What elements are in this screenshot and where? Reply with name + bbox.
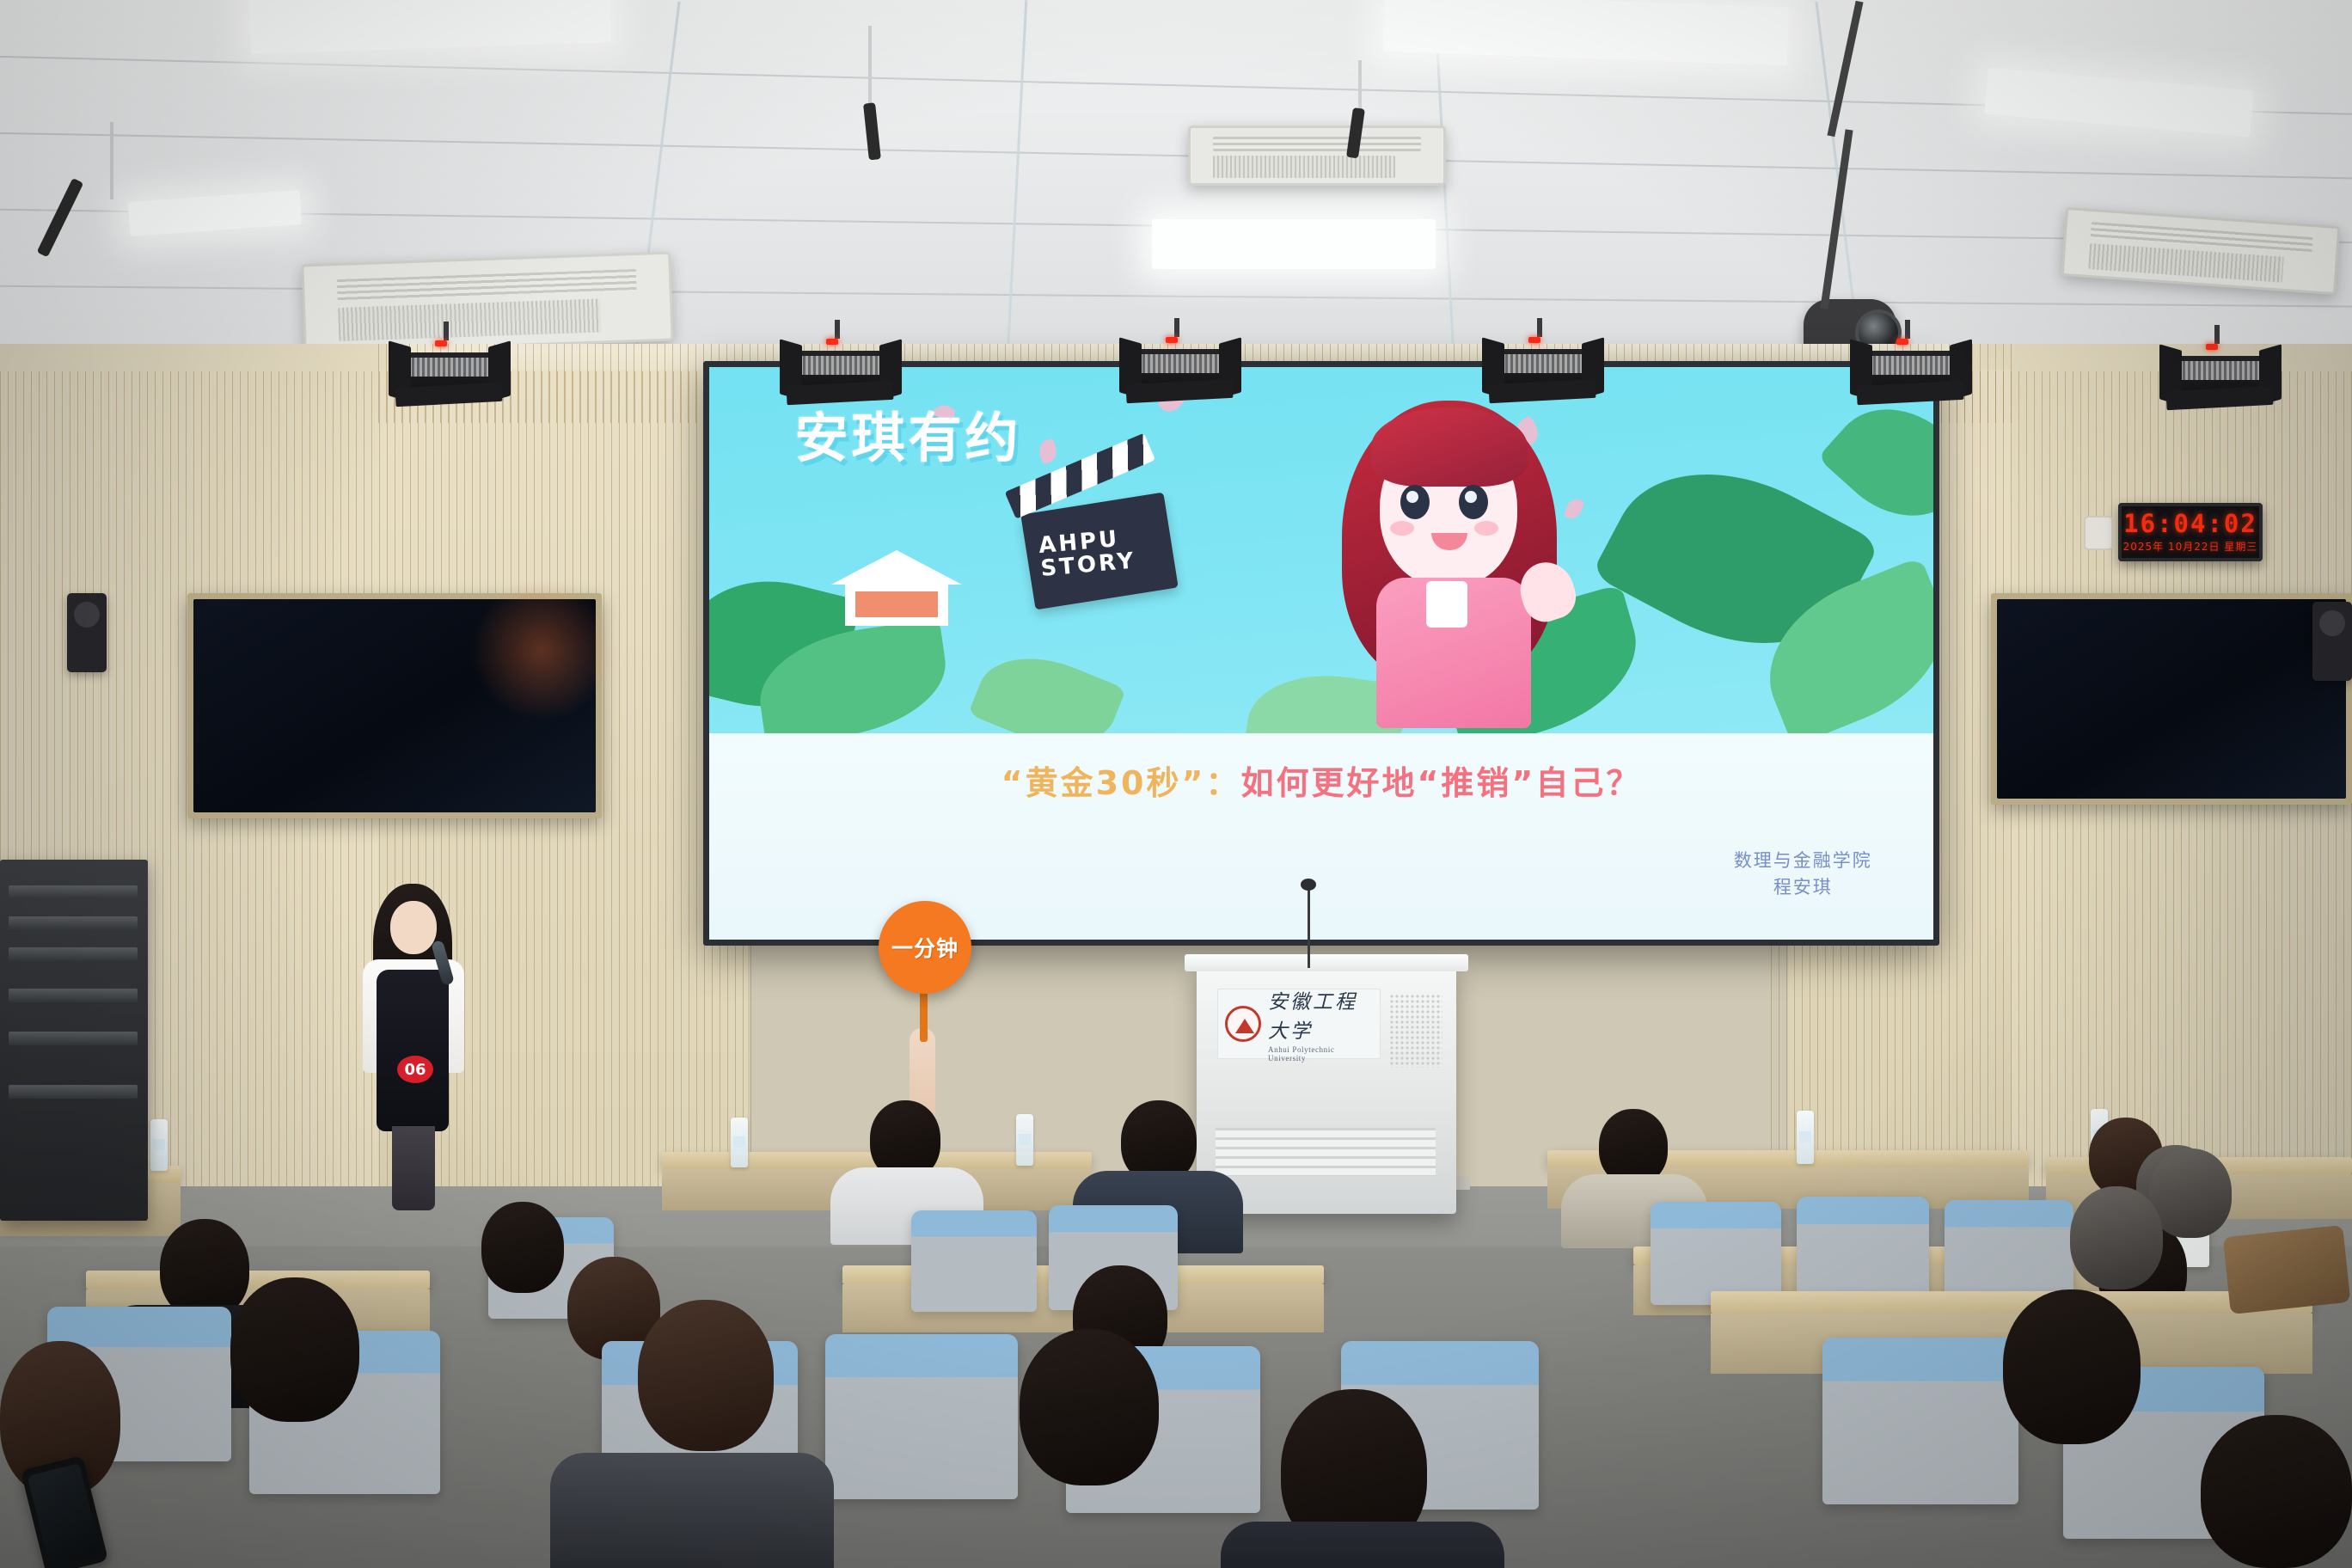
slide-house-graphic <box>831 550 960 626</box>
audience-shoulders <box>550 1453 834 1568</box>
lecture-hall-photo: 16:04:02 2025年 10月22日 星期三 <box>0 0 2352 1568</box>
stage-light <box>387 337 512 411</box>
presenter-speaker: 06 <box>344 884 481 1210</box>
timer-paddle-handle <box>920 989 928 1042</box>
podium-vent-panel <box>1216 1128 1436 1176</box>
podium-microphone-stand <box>1308 885 1310 968</box>
equipment-rack <box>0 860 148 1221</box>
stage-light-indicator <box>2206 344 2218 350</box>
audience-head <box>2070 1186 2163 1289</box>
stage-light-indicator <box>1896 339 1908 345</box>
ceiling-speaker <box>37 178 84 257</box>
camera-mount-arm <box>1827 1 1863 137</box>
clapperboard-icon: AHPU STORY <box>1021 492 1179 609</box>
wall-speaker-left <box>67 593 107 672</box>
university-name-cn: 安徽工程大学 <box>1268 985 1373 1044</box>
lecture-seat[interactable] <box>825 1334 1018 1499</box>
stage-light <box>778 335 903 409</box>
audience-desk <box>86 1271 430 1289</box>
water-bottle <box>1797 1111 1814 1164</box>
audience-shoulders <box>1221 1522 1504 1568</box>
university-nameplate: 安徽工程大学 Anhui Polytechnic University <box>1217 989 1381 1059</box>
stage-light-indicator <box>826 339 838 345</box>
clapperboard-arm <box>1005 432 1155 518</box>
lecture-seat[interactable] <box>1651 1202 1781 1305</box>
right-side-display[interactable] <box>1991 593 2352 805</box>
slide-illustration-area: 安琪有约 AHPU STORY <box>709 367 1933 733</box>
audience-head <box>230 1277 359 1422</box>
podium-microphone-head <box>1301 879 1316 891</box>
stage-light-indicator <box>1166 337 1178 343</box>
presenter-face <box>390 901 437 954</box>
water-bottle <box>731 1118 748 1167</box>
stage-light-indicator <box>1528 337 1540 343</box>
slide-caption-pink: 如何更好地“推销”自己？ <box>1240 764 1641 802</box>
ceiling-light-panel <box>1152 219 1436 269</box>
stage-light <box>1480 334 1606 407</box>
lecture-seat[interactable] <box>1822 1338 2018 1504</box>
ceiling-light-panel <box>1383 0 1789 65</box>
digital-wall-clock: 16:04:02 2025年 10月22日 星期三 <box>2118 503 2263 561</box>
clock-time: 16:04:02 <box>2122 509 2259 538</box>
air-conditioner-unit <box>1188 126 1446 186</box>
audience-head <box>638 1300 774 1451</box>
lecture-seat[interactable] <box>1797 1197 1929 1303</box>
slide-caption-gold: “黄金30秒”： <box>1001 764 1241 802</box>
lectern-podium: 安徽工程大学 Anhui Polytechnic University <box>1197 965 1456 1214</box>
water-bottle <box>150 1119 168 1171</box>
slide-caption: “黄金30秒”：如何更好地“推销”自己？ <box>709 756 1933 804</box>
right-display-screen <box>1997 599 2346 799</box>
timer-paddle-sign: 一分钟 <box>879 901 971 994</box>
ceiling-speaker <box>863 102 881 160</box>
cartoon-mascot <box>1321 382 1579 726</box>
university-name-en: Anhui Polytechnic University <box>1268 1045 1373 1063</box>
lecture-seat[interactable] <box>911 1210 1037 1312</box>
lecture-seat[interactable] <box>1945 1200 2073 1305</box>
stage-light <box>1848 335 1974 409</box>
clock-date: 2025年 10月22日 星期三 <box>2122 539 2259 554</box>
slide-attribution-dept: 数理与金融学院 <box>1734 848 1872 873</box>
ceiling-light-panel <box>1984 68 2254 138</box>
ceiling-light-panel <box>248 0 612 54</box>
shoulder-bag <box>2223 1225 2351 1314</box>
left-side-display[interactable] <box>187 593 602 818</box>
wall-speaker-right <box>2312 602 2352 681</box>
audience-head <box>1020 1329 1159 1485</box>
clapperboard-line-2: STORY <box>1040 549 1137 581</box>
projection-screen-frame: 安琪有约 AHPU STORY <box>703 361 1939 946</box>
timer-paddle-label: 一分钟 <box>891 932 959 963</box>
air-conditioner-unit <box>2061 207 2341 295</box>
water-bottle <box>1016 1114 1033 1166</box>
audience-desk <box>1711 1291 2312 1314</box>
projection-screen: 安琪有约 AHPU STORY <box>709 367 1933 940</box>
stage-light <box>1118 334 1243 407</box>
audience-head <box>160 1219 249 1319</box>
slide-title: 安琪有约 <box>795 411 1022 465</box>
ceiling-light-panel <box>128 190 302 236</box>
podium-speaker-mesh <box>1389 994 1442 1068</box>
audience-head <box>2003 1289 2141 1444</box>
phone-screen-indicator <box>49 1515 74 1532</box>
audience-head <box>481 1202 564 1293</box>
slide-attribution: 数理与金融学院 程安琪 <box>1734 848 1872 900</box>
contestant-number-badge: 06 <box>397 1056 433 1083</box>
stage-light-indicator <box>435 340 447 346</box>
audience-head <box>2201 1415 2352 1568</box>
university-seal-icon <box>1225 1006 1261 1042</box>
stage-light <box>2158 340 2283 414</box>
audience-head <box>1599 1109 1668 1185</box>
slide-attribution-name: 程安琪 <box>1734 874 1872 900</box>
motion-sensor <box>2084 516 2113 550</box>
